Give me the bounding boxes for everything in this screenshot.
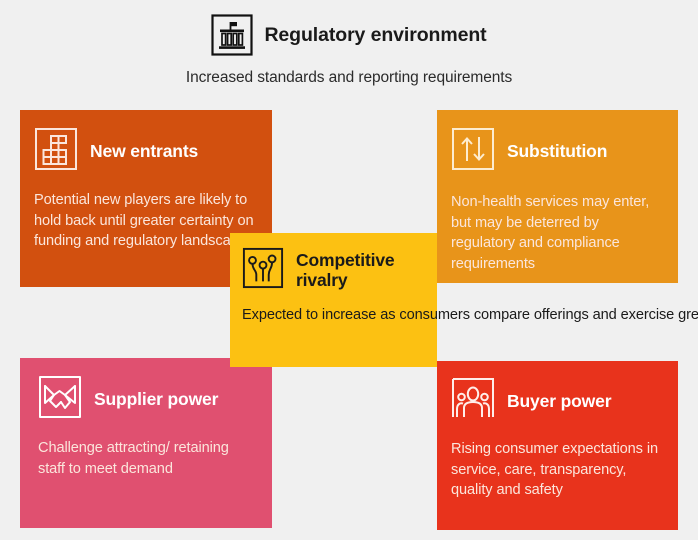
force-body-competitive-rivalry: Expected to increase as consumers compar… <box>242 305 427 326</box>
force-card-competitive-rivalry[interactable]: Competitive rivalry Expected to increase… <box>230 233 437 367</box>
network-nodes-icon <box>242 247 284 294</box>
people-group-icon <box>451 377 495 426</box>
force-body-buyer-power: Rising consumer expectations in service,… <box>451 439 666 501</box>
force-header-competitive-rivalry: Competitive rivalry <box>242 247 427 294</box>
force-header-new-entrants: New entrants <box>34 127 255 176</box>
header-title-row: Regulatory environment <box>0 14 698 56</box>
force-title-competitive-rivalry: Competitive rivalry <box>296 251 427 291</box>
blocks-icon <box>34 127 78 176</box>
force-body-new-entrants: Potential new players are likely to hold… <box>34 190 255 252</box>
up-down-arrows-icon <box>451 127 495 176</box>
force-title-supplier-power: Supplier power <box>94 389 218 410</box>
force-body-supplier-power: Challenge attracting/ retaining staff to… <box>38 438 255 479</box>
force-header-supplier-power: Supplier power <box>38 375 255 424</box>
force-title-new-entrants: New entrants <box>90 141 198 162</box>
header-subtitle: Increased standards and reporting requir… <box>0 69 698 87</box>
diagram-header: Regulatory environment Increased standar… <box>0 14 698 87</box>
force-title-buyer-power: Buyer power <box>507 391 611 412</box>
force-card-supplier-power[interactable]: Supplier power Challenge attracting/ ret… <box>20 358 272 528</box>
force-title-substitution: Substitution <box>507 141 607 162</box>
government-building-icon <box>211 14 253 56</box>
handshake-icon <box>38 375 82 424</box>
force-header-substitution: Substitution <box>451 127 664 176</box>
force-card-substitution[interactable]: Substitution Non-health services may ent… <box>437 110 678 283</box>
force-body-substitution: Non-health services may enter, but may b… <box>451 192 664 275</box>
porters-five-forces-diagram: Regulatory environment Increased standar… <box>0 0 698 540</box>
page-title: Regulatory environment <box>264 24 486 47</box>
force-header-buyer-power: Buyer power <box>451 377 666 426</box>
force-card-buyer-power[interactable]: Buyer power Rising consumer expectations… <box>437 361 678 530</box>
